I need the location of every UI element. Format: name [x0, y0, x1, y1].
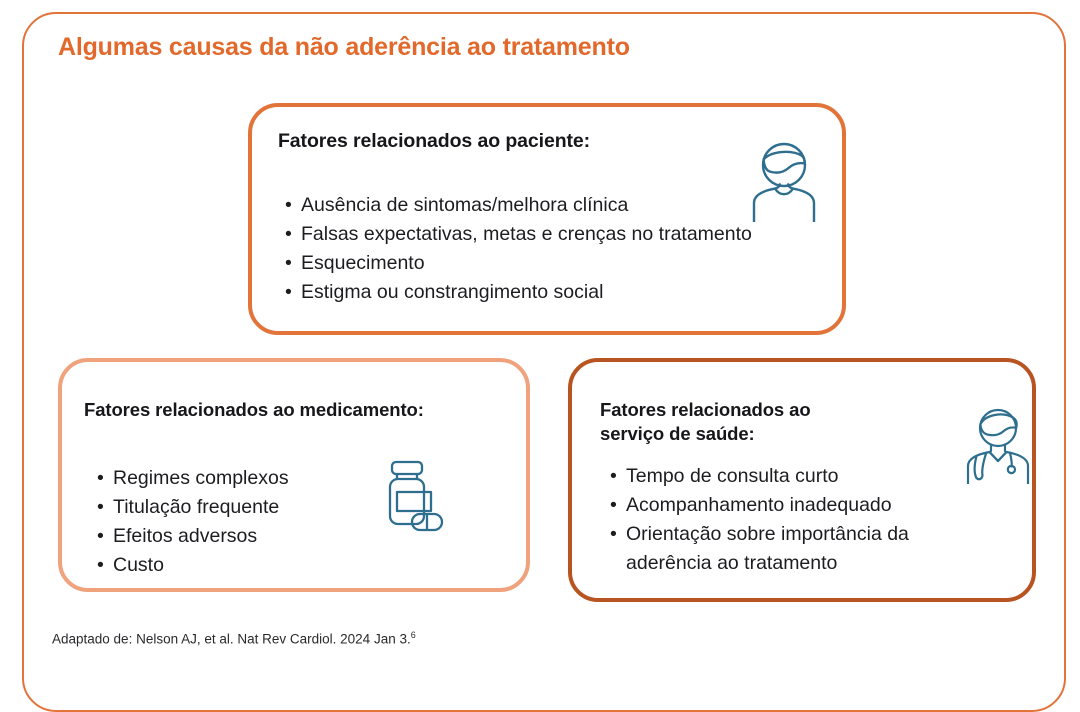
card-health-service-heading: Fatores relacionados ao serviço de saúde… [600, 398, 890, 445]
list-item: Custo [97, 551, 289, 580]
footnote-text: Adaptado de: Nelson AJ, et al. Nat Rev C… [52, 632, 411, 647]
list-item: Estigma ou constrangimento social [285, 278, 752, 307]
list-item: Falsas expectativas, metas e crenças no … [285, 220, 752, 249]
card-health-service-heading-line1: Fatores relacionados ao [600, 398, 890, 422]
patient-icon [745, 140, 823, 222]
list-item: Efeitos adversos [97, 522, 289, 551]
card-medication-bullet-list: Regimes complexos Titulação frequente Ef… [97, 464, 289, 580]
card-health-service-factors: Fatores relacionados ao serviço de saúde… [568, 358, 1036, 602]
list-item: Ausência de sintomas/melhora clínica [285, 191, 752, 220]
page-title: Algumas causas da não aderência ao trata… [58, 33, 630, 62]
pill-bottle-icon [376, 458, 448, 534]
card-health-service-bullet-list: Tempo de consulta curto Acompanhamento i… [610, 462, 990, 578]
card-medication-heading: Fatores relacionados ao medicamento: [84, 398, 424, 422]
card-health-service-heading-line2: serviço de saúde: [600, 422, 890, 446]
footnote-reference-number: 6 [411, 630, 416, 640]
card-patient-factors: Fatores relacionados ao paciente: Ausênc… [248, 103, 846, 335]
doctor-icon [962, 406, 1034, 484]
list-item: Titulação frequente [97, 493, 289, 522]
card-patient-heading: Fatores relacionados ao paciente: [278, 129, 590, 154]
card-medication-factors: Fatores relacionados ao medicamento: Reg… [58, 358, 530, 592]
list-item: Regimes complexos [97, 464, 289, 493]
list-item: Esquecimento [285, 249, 752, 278]
list-item: Tempo de consulta curto [610, 462, 990, 491]
list-item: Acompanhamento inadequado [610, 491, 990, 520]
list-item: Orientação sobre importância da aderênci… [610, 520, 990, 578]
slide-canvas: Algumas causas da não aderência ao trata… [0, 0, 1080, 680]
card-patient-bullet-list: Ausência de sintomas/melhora clínica Fal… [285, 191, 752, 307]
source-footnote: Adaptado de: Nelson AJ, et al. Nat Rev C… [52, 630, 416, 647]
